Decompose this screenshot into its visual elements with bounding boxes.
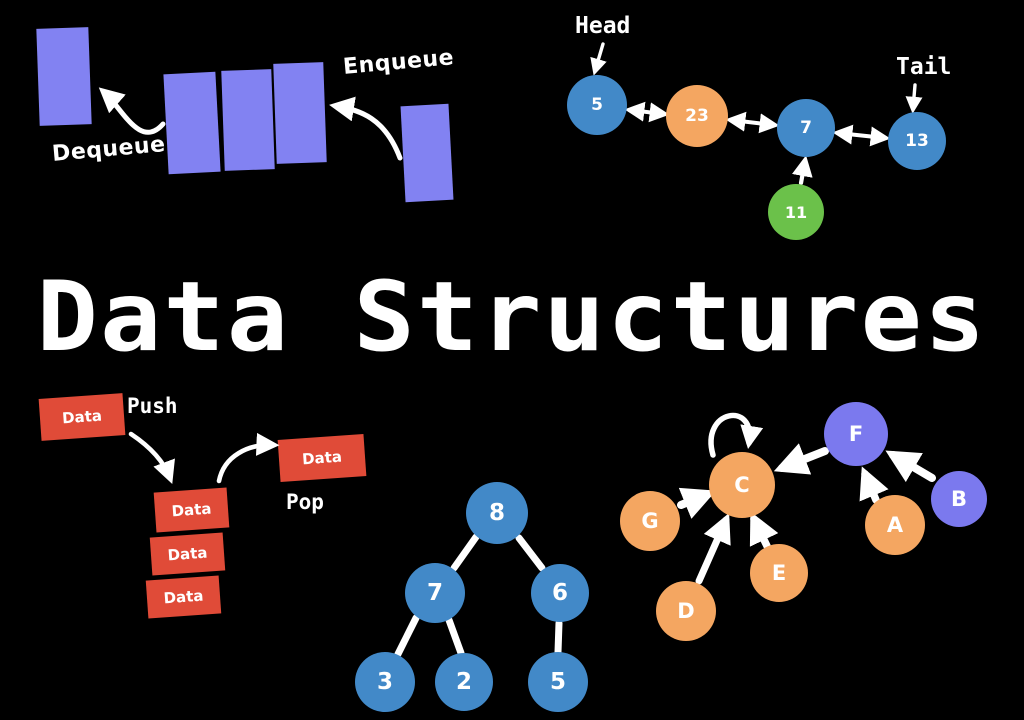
tail-label: Tail: [896, 54, 951, 80]
graph-node-c-value: C: [734, 473, 749, 497]
ll-node-13-value: 13: [905, 131, 929, 151]
tree-node-8-value: 8: [489, 500, 505, 526]
graph-arrow-f-c: [782, 451, 825, 468]
poster-canvas: Data Data Data Data Data: [0, 0, 1024, 720]
ll-node-11: 11: [768, 184, 824, 240]
tree-edge-8-6: [519, 538, 542, 568]
ll-node-5-value: 5: [591, 95, 603, 115]
graph-arrow-d-c: [699, 520, 726, 581]
graph-node-e-value: E: [772, 561, 786, 585]
graph-arrow-a-f: [865, 474, 876, 500]
tree-edge-7-2: [449, 620, 461, 653]
tree-node-6: 6: [531, 564, 589, 622]
tree-node-3: 3: [355, 652, 415, 712]
dequeue-arrow: [104, 92, 163, 132]
tree-edge-6-5: [558, 623, 559, 652]
pop-label: Pop: [286, 490, 324, 514]
graph-node-e: E: [750, 544, 808, 602]
graph-arrow-g-c: [681, 494, 708, 505]
graph-node-a: A: [865, 495, 925, 555]
graph-node-f: F: [824, 402, 888, 466]
tree-edge-7-3: [398, 618, 416, 654]
tree-node-5-value: 5: [550, 669, 566, 695]
graph-node-b-value: B: [951, 487, 967, 511]
graph-arrow-b-f: [893, 455, 932, 478]
tree-edge-8-7: [454, 537, 476, 568]
ll-node-23-value: 23: [685, 106, 709, 126]
head-label: Head: [575, 13, 630, 39]
tree-node-2: 2: [435, 653, 493, 711]
ll-edge-23-7: [731, 120, 774, 125]
ll-node-7-value: 7: [800, 118, 812, 138]
push-arrow: [131, 434, 170, 478]
graph-self-loop-c: [711, 415, 750, 455]
ll-edge-5-23: [630, 110, 664, 114]
ll-node-5: 5: [567, 75, 627, 135]
ll-node-7: 7: [777, 99, 835, 157]
head-pointer-arrow: [595, 44, 603, 71]
tree-node-3-value: 3: [377, 669, 393, 695]
graph-node-g-value: G: [641, 509, 658, 533]
tree-node-2-value: 2: [456, 669, 472, 695]
tree-node-8: 8: [466, 482, 528, 544]
graph-node-d-value: D: [677, 599, 694, 623]
graph-node-d: D: [656, 581, 716, 641]
graph-node-g: G: [620, 491, 680, 551]
ll-node-13: 13: [888, 112, 946, 170]
ll-node-11-value: 11: [785, 203, 807, 222]
tree-node-6-value: 6: [552, 580, 568, 606]
ll-edge-7-13: [838, 133, 885, 138]
graph-node-c: C: [709, 452, 775, 518]
pop-arrow: [219, 445, 273, 481]
tree-node-7: 7: [405, 563, 465, 623]
graph-node-b: B: [931, 471, 987, 527]
tree-node-5: 5: [528, 652, 588, 712]
graph-node-f-value: F: [849, 422, 863, 446]
page-title: Data Structures: [0, 258, 1024, 376]
tree-node-7-value: 7: [427, 580, 443, 606]
enqueue-arrow: [336, 106, 400, 158]
tail-pointer-arrow: [913, 85, 915, 109]
graph-node-a-value: A: [887, 513, 903, 537]
graph-arrow-e-c: [754, 519, 767, 546]
ll-edge-11-7: [801, 161, 805, 183]
push-label: Push: [127, 394, 178, 418]
ll-node-23: 23: [666, 85, 728, 147]
